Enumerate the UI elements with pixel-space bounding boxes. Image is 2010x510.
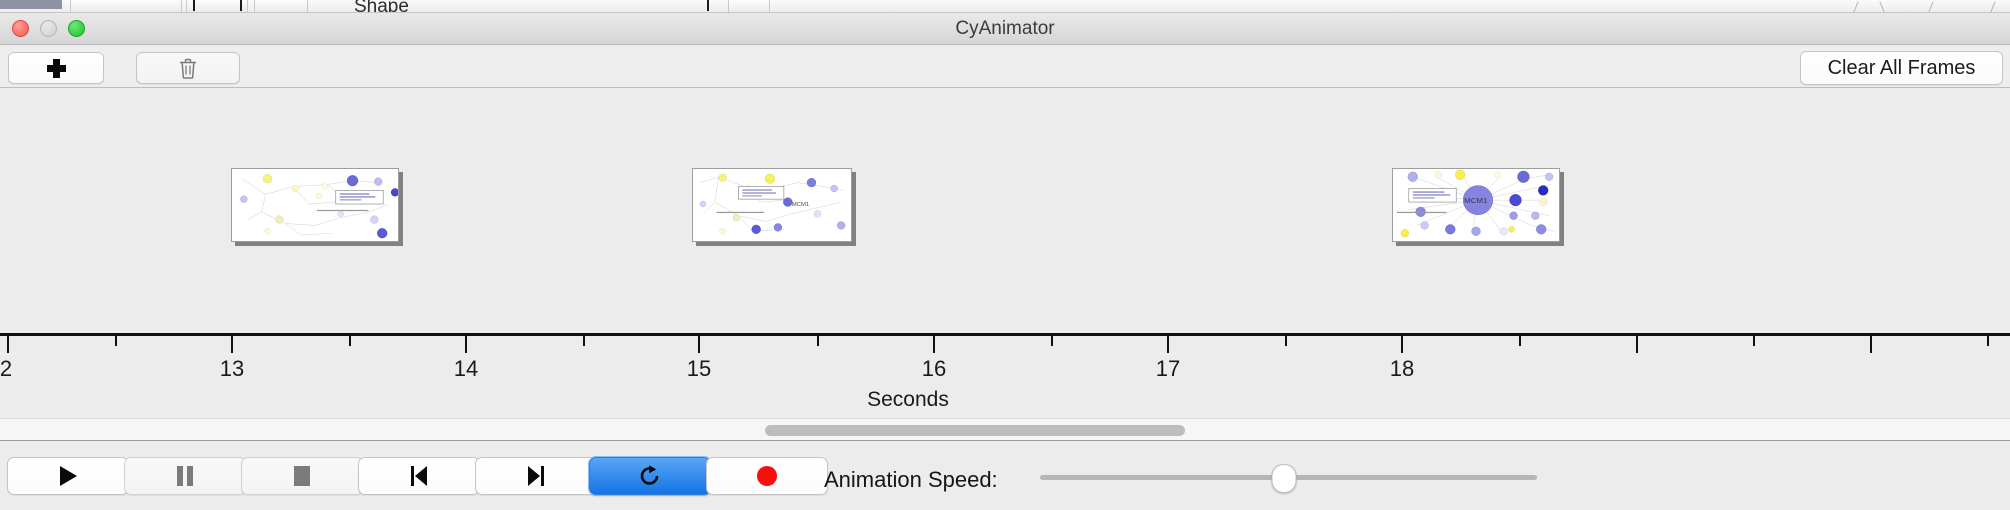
axis-tick-major xyxy=(1167,336,1169,353)
trash-icon xyxy=(179,58,197,79)
svg-text:MCM1: MCM1 xyxy=(792,202,809,208)
record-button[interactable] xyxy=(706,457,828,495)
axis-tick-minor xyxy=(1987,336,1989,346)
skip-back-icon xyxy=(409,465,429,487)
background-mark xyxy=(707,0,709,11)
slider-thumb[interactable] xyxy=(1271,464,1296,493)
stop-button[interactable] xyxy=(241,457,363,495)
axis-tick-label: 16 xyxy=(922,356,946,382)
axis-tick-major xyxy=(465,336,467,353)
record-icon xyxy=(756,465,778,487)
axis-tick-minor xyxy=(115,336,117,346)
axis-tick-minor xyxy=(1519,336,1521,346)
play-icon xyxy=(58,465,78,487)
skip-back-button[interactable] xyxy=(358,457,480,495)
animation-speed-slider[interactable] xyxy=(1040,475,1537,479)
axis-tick-minor xyxy=(817,336,819,346)
axis-tick-major xyxy=(231,336,233,353)
animation-speed-label: Animation Speed: xyxy=(824,467,998,493)
network-thumbnail-graphic: MCM1 xyxy=(1393,169,1559,241)
timeline-frame-thumbnail[interactable]: MCM1 xyxy=(1392,168,1560,242)
axis-tick-label: 14 xyxy=(454,356,478,382)
timeline-panel[interactable]: MCM1 xyxy=(0,88,2010,418)
axis-tick-major xyxy=(698,336,700,353)
background-mark xyxy=(240,0,242,11)
background-window-titlebar xyxy=(0,0,62,9)
delete-frame-button[interactable] xyxy=(136,52,240,84)
frame-toolbar: Clear All Frames xyxy=(0,45,2010,88)
network-thumbnail-graphic: MCM1 xyxy=(693,169,851,241)
plus-icon xyxy=(47,59,66,78)
axis-tick-major xyxy=(1636,336,1638,353)
loop-icon xyxy=(638,464,662,488)
axis-tick-major xyxy=(1401,336,1403,353)
axis-tick-minor xyxy=(349,336,351,346)
stop-icon xyxy=(292,465,312,487)
window-title: CyAnimator xyxy=(0,13,2010,45)
axis-tick-label: 2 xyxy=(0,356,12,382)
axis-tick-minor xyxy=(583,336,585,346)
svg-text:MCM1: MCM1 xyxy=(1464,196,1487,205)
background-window-strip: Shape xyxy=(0,0,2010,13)
add-frame-button[interactable] xyxy=(8,52,104,84)
pause-button[interactable] xyxy=(124,457,246,495)
timeline-frame-thumbnail[interactable]: MCM1 xyxy=(692,168,852,242)
axis-tick-label: 13 xyxy=(220,356,244,382)
axis-tick-label: 15 xyxy=(687,356,711,382)
axis-tick-label: 17 xyxy=(1156,356,1180,382)
axis-tick-major xyxy=(933,336,935,353)
timeline-scrollbar-thumb[interactable] xyxy=(765,425,1185,436)
timeline-scrollbar[interactable] xyxy=(0,418,2010,440)
clear-all-frames-button[interactable]: Clear All Frames xyxy=(1800,51,2003,85)
axis-tick-minor xyxy=(1051,336,1053,346)
axis-tick-minor xyxy=(1285,336,1287,346)
background-mark xyxy=(193,0,195,11)
playback-control-bar: Animation Speed: xyxy=(0,440,2010,510)
timeline-axis xyxy=(0,333,2010,336)
axis-tick-label: 18 xyxy=(1390,356,1414,382)
network-thumbnail-graphic xyxy=(232,169,398,241)
axis-tick-major xyxy=(1870,336,1872,353)
timeline-frame-thumbnail[interactable] xyxy=(231,168,399,242)
play-button[interactable] xyxy=(7,457,129,495)
clear-all-frames-label: Clear All Frames xyxy=(1828,57,1976,80)
cyanimator-window: Shape CyAnimator Clear All Frames xyxy=(0,0,2010,510)
skip-forward-button[interactable] xyxy=(475,457,597,495)
axis-tick-major xyxy=(7,336,9,353)
loop-button[interactable] xyxy=(589,457,711,495)
axis-title: Seconds xyxy=(0,388,1816,412)
axis-tick-minor xyxy=(1753,336,1755,346)
skip-forward-icon xyxy=(526,465,546,487)
pause-icon xyxy=(176,465,194,487)
title-bar: CyAnimator xyxy=(0,13,2010,45)
